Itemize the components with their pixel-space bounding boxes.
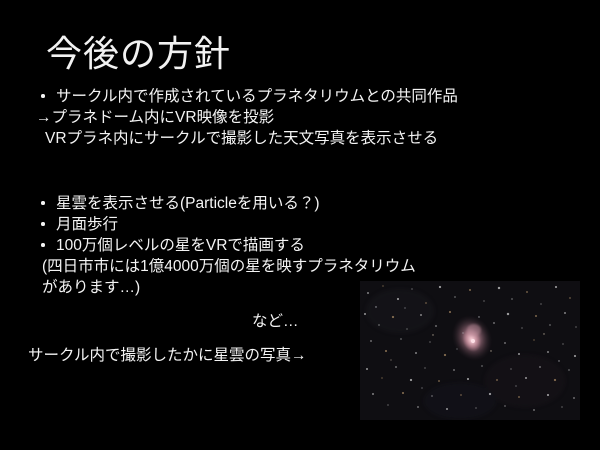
photo-caption: サークル内で撮影したかに星雲の写真→ (28, 345, 307, 366)
sub-line-projection-label: →プラネドーム内にVR映像を投影 (36, 109, 274, 126)
note-line-yokkaichi-label: (四日市市には1億4000万個の星を映すプラネタリウム (42, 258, 416, 275)
sub-line-astrophoto-display: VRプラネ内にサークルで撮影した天文写真を表示させる (36, 128, 542, 149)
bullet-dot-icon (41, 94, 45, 98)
bullet-item-collab-label: サークル内で作成されているプラネタリウムとの共同作品 (56, 88, 458, 105)
bullet-dot-icon (41, 222, 45, 226)
bullet-item-million-stars-label: 100万個レベルの星をVRで描画する (56, 237, 305, 254)
etcetera-line: など… (252, 311, 299, 332)
sub-line-projection: →プラネドーム内にVR映像を投影 (36, 107, 542, 128)
page-title: 今後の方針 (46, 32, 231, 76)
bullet-dot-icon (41, 201, 45, 205)
crab-nebula-image (360, 281, 580, 420)
sub-line-astrophoto-display-label: VRプラネ内にサークルで撮影した天文写真を表示させる (45, 130, 438, 147)
bullet-item-moonwalk: 月面歩行 (36, 214, 542, 235)
bullet-item-moonwalk-label: 月面歩行 (56, 216, 118, 233)
etcetera-label: など… (252, 313, 299, 330)
crab-nebula-photograph (360, 281, 580, 420)
note-line-yokkaichi-cont-label: があります…) (42, 279, 140, 296)
bullet-item-nebula-particle: 星雲を表示させる(Particleを用いる？) (36, 193, 542, 214)
bullet-item-nebula-particle-label: 星雲を表示させる(Particleを用いる？) (56, 195, 320, 212)
photo-caption-label: サークル内で撮影したかに星雲の写真→ (28, 347, 307, 364)
presentation-slide: 今後の方針 サークル内で作成されているプラネタリウムとの共同作品 →プラネドーム… (0, 0, 600, 450)
bullet-item-million-stars: 100万個レベルの星をVRで描画する (36, 235, 542, 256)
bullet-dot-icon (41, 243, 45, 247)
bullet-item-collab: サークル内で作成されているプラネタリウムとの共同作品 (36, 86, 548, 107)
body-text-upper: サークル内で作成されているプラネタリウムとの共同作品 →プラネドーム内にVR映像… (36, 86, 542, 149)
note-line-yokkaichi: (四日市市には1億4000万個の星を映すプラネタリウム (36, 256, 542, 277)
